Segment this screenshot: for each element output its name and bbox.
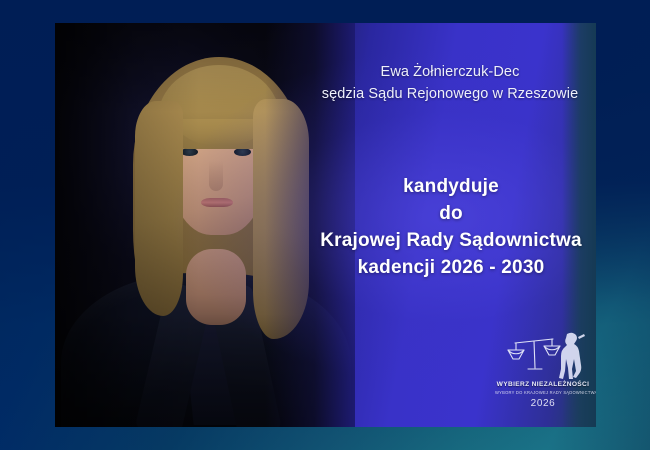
candidate-name: Ewa Żołnierczuk-Dec (305, 61, 595, 83)
campaign-banner: Ewa Żołnierczuk-Dec sędzia Sądu Rejonowe… (55, 23, 596, 427)
mouth (201, 198, 233, 207)
neck (186, 249, 246, 325)
poster-frame: Ewa Żołnierczuk-Dec sędzia Sądu Rejonowe… (0, 0, 650, 450)
emblem-title: WYBIERZ NIEZALEŻNOŚCI (495, 380, 591, 389)
campaign-emblem: WYBIERZ NIEZALEŻNOŚCI WYBORY DO KRAJOWEJ… (495, 328, 591, 416)
scales-of-justice-icon (495, 328, 591, 380)
candidate-role: sędzia Sądu Rejonowego w Rzeszowie (305, 83, 595, 105)
eye-right (234, 148, 251, 156)
candidate-identity: Ewa Żołnierczuk-Dec sędzia Sądu Rejonowe… (305, 61, 595, 105)
nose (209, 161, 223, 191)
headline-line-4: kadencji 2026 - 2030 (301, 254, 596, 281)
headline-line-3: Krajowej Rady Sądownictwa (301, 227, 596, 254)
headline-line-2: do (301, 200, 596, 227)
campaign-headline: kandyduje do Krajowej Rady Sądownictwa k… (301, 173, 596, 281)
emblem-subtitle: WYBORY DO KRAJOWEJ RADY SĄDOWNICTWA (495, 389, 591, 396)
hair-left (135, 101, 183, 316)
headline-line-1: kandyduje (301, 173, 596, 200)
eye-left (181, 148, 198, 156)
emblem-year: 2026 (495, 397, 591, 410)
